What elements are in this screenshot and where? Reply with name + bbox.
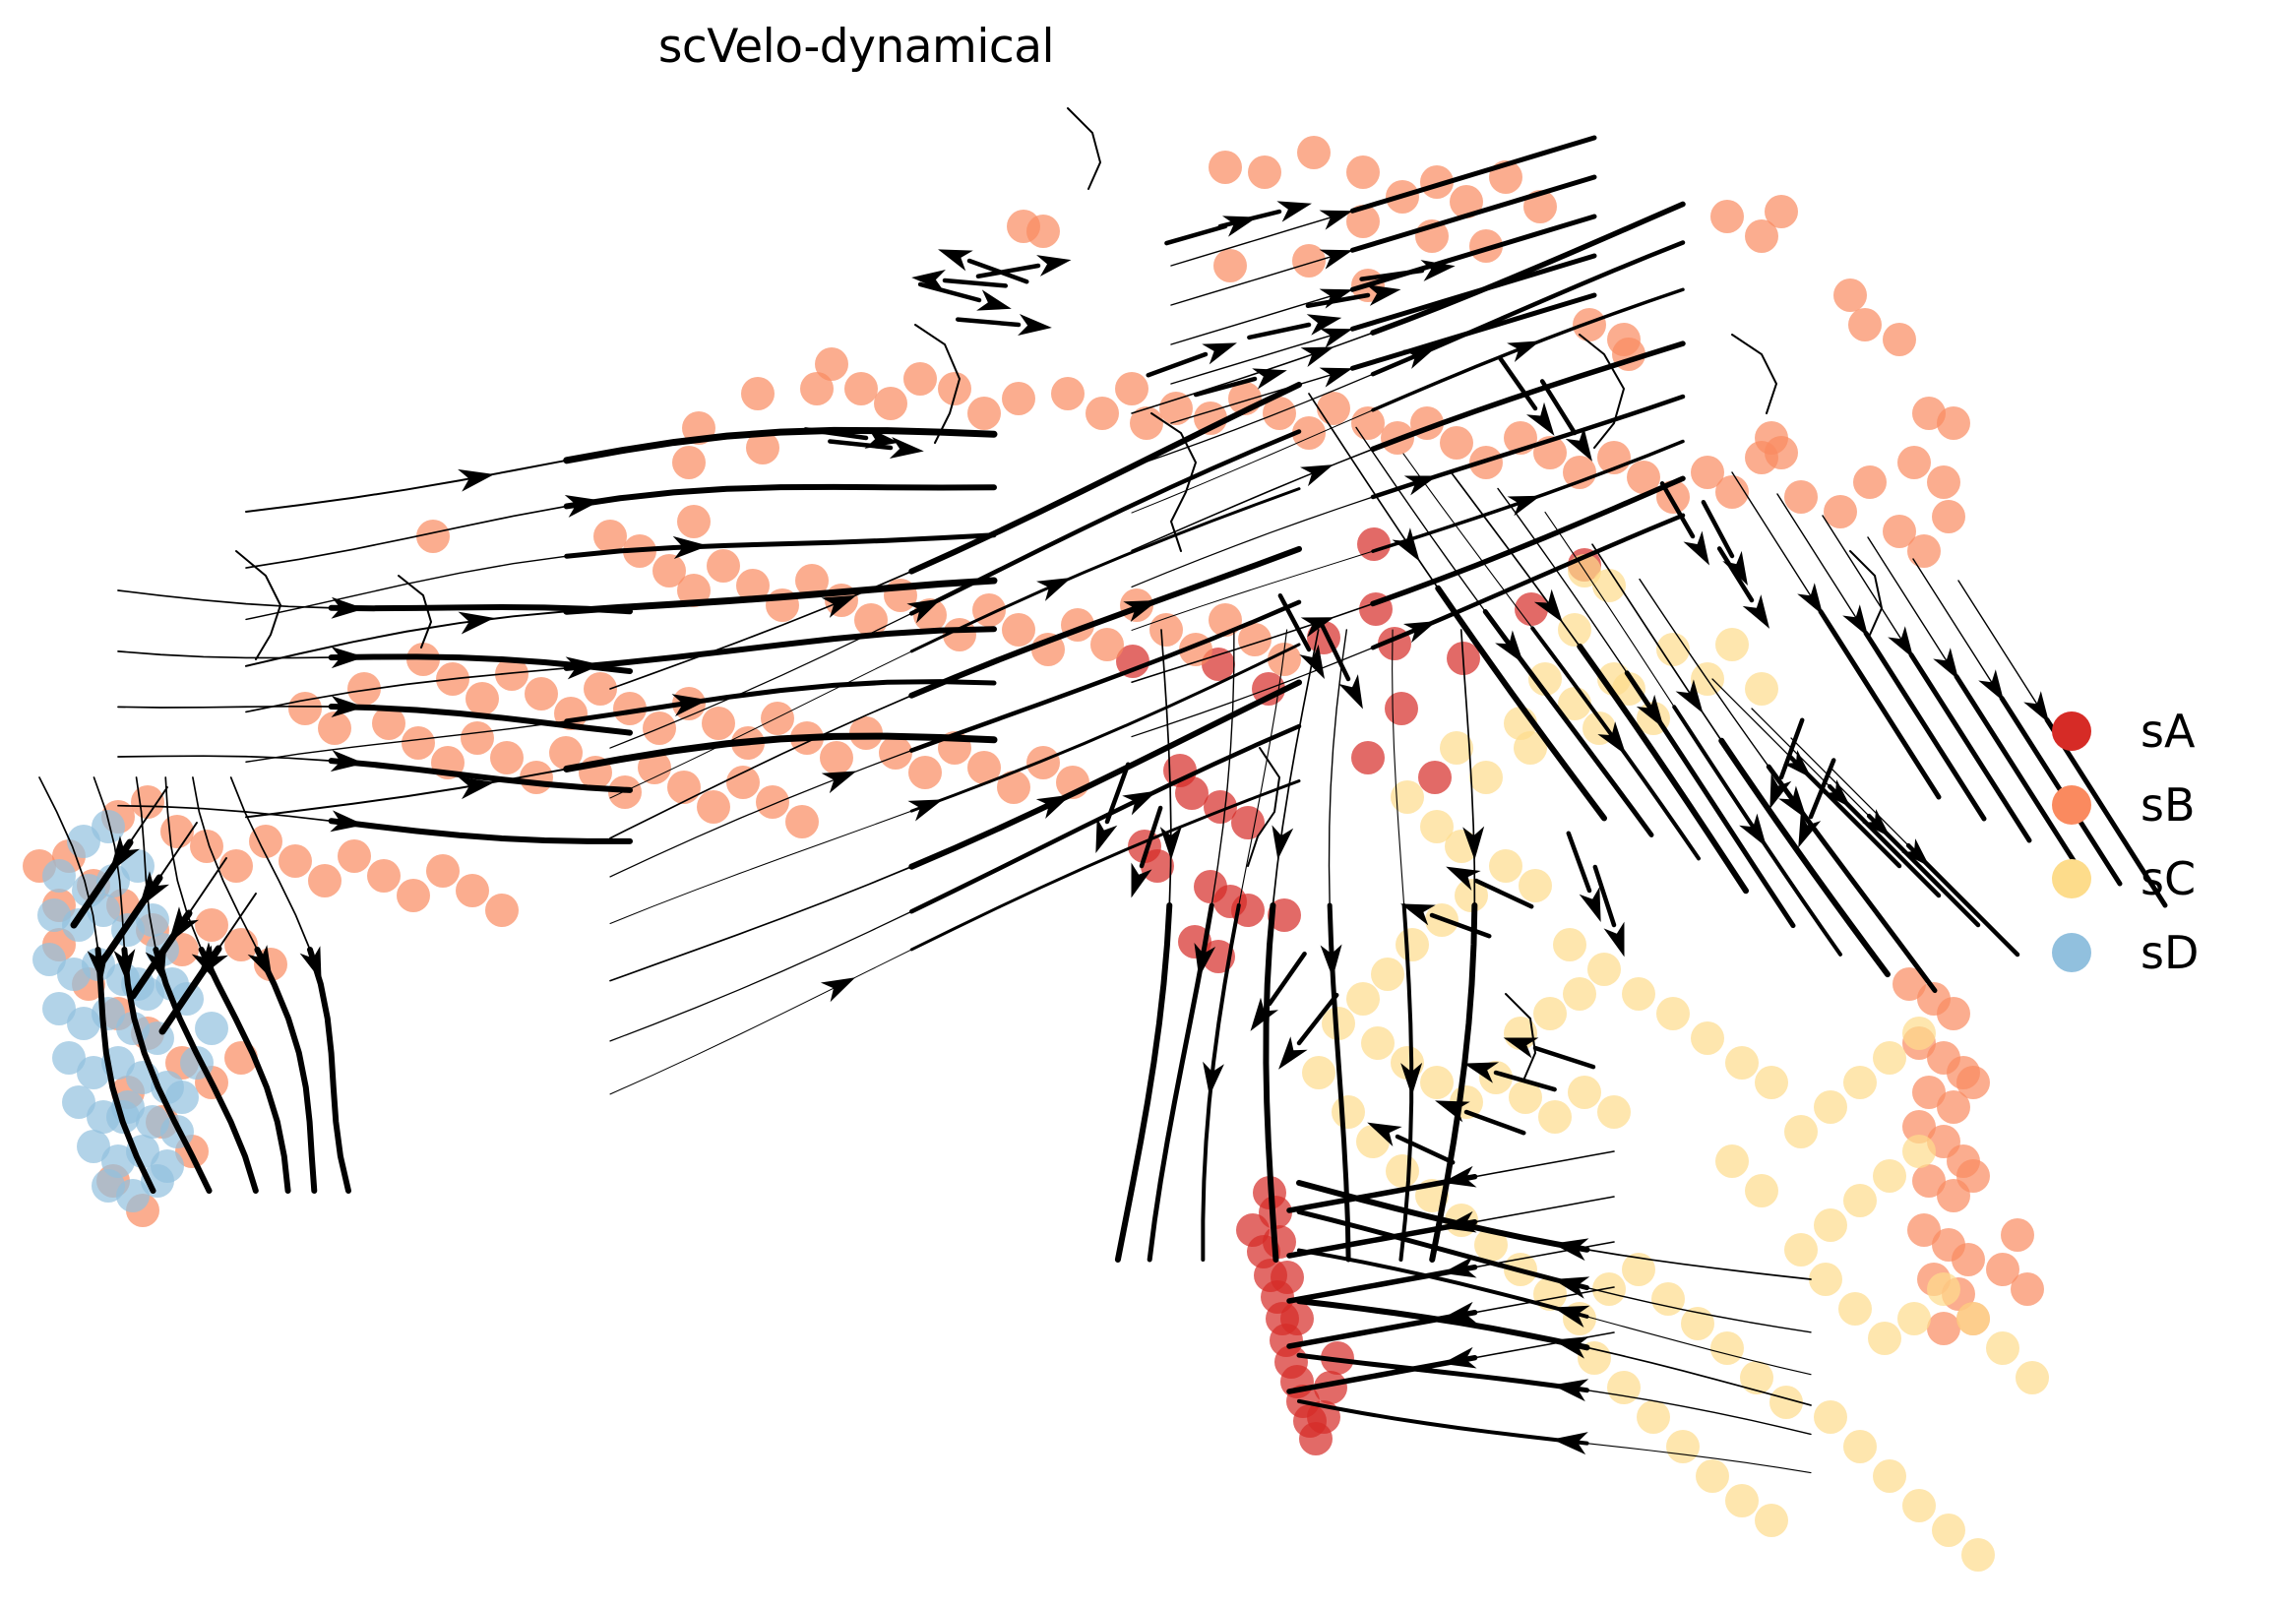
scatter-point [318,711,351,745]
scatter-point [815,347,848,381]
scatter-point [1715,1144,1749,1178]
scatter-point [1573,308,1606,341]
scatter-point [1597,1095,1631,1129]
velocity-streamline [1821,611,1939,797]
scatter-point [1765,195,1798,228]
scatter-point [726,766,760,799]
legend-dot-sA [2052,711,2091,751]
legend-item-sB[interactable]: sB [2052,768,2199,841]
scatter-point [1607,1371,1641,1404]
velocity-arrowhead [1933,648,1967,685]
scatter-point [1130,406,1163,440]
scatter-point [1651,1282,1685,1316]
velocity-streamline [610,950,911,1094]
velocity-arrowhead [821,967,860,1002]
velocity-streamline [246,461,567,512]
velocity-streamline [1732,335,1776,413]
scatter-point [1346,155,1380,189]
velocity-streamline [1068,108,1100,189]
scatter-point [485,894,519,927]
velocity-streamline [1466,1112,1523,1133]
scatter-point [1317,392,1350,425]
scatter-point [1159,392,1193,425]
legend-label-sC: sC [2141,856,2196,901]
scatter-point [1809,1263,1842,1296]
scatter-point [456,874,489,907]
velocity-streamline [1132,410,1373,513]
scatter-point [1902,1489,1936,1522]
scatter-point [1932,1514,1965,1547]
velocity-streamline [1270,954,1305,1004]
scatter-point [1937,997,1970,1030]
scatter-point [1853,465,1887,499]
scatter-point [490,741,524,774]
scatter-point [1209,151,1242,184]
velocity-streamline [1393,630,1404,905]
scatter-point [1952,1243,1985,1276]
velocity-streamline [911,431,1299,613]
scatter-point [1533,997,1567,1030]
scatter-point [160,815,194,848]
velocity-arrowhead [1267,825,1293,861]
scatter-point [1489,849,1522,883]
velocity-streamline [189,858,226,913]
velocity-arrowhead [1036,249,1073,277]
velocity-streamline [1475,1197,1614,1222]
scatter-point [338,839,371,873]
scatter-point [1745,672,1778,706]
scatter-point [1883,323,1916,356]
legend-item-sD[interactable]: sD [2052,915,2199,989]
scatter-point [1002,613,1035,647]
scatter-point [1115,372,1148,405]
scatter-point [279,844,312,878]
scatter-point [308,864,341,897]
scatter-point [1691,1021,1724,1055]
scatter-point [1386,1154,1419,1188]
velocity-streamline [332,656,630,671]
scatter-point [1351,406,1385,440]
velocity-streamline [1866,633,1984,819]
velocity-streamline [1299,1211,1587,1287]
velocity-arrowhead [1842,604,1877,642]
velocity-streamlines-layer [39,108,2165,1473]
scatter-point [1592,569,1626,602]
velocity-arrowhead [907,789,947,821]
scatter-point [1932,500,1965,533]
velocity-arrowhead [458,464,496,492]
scatter-point [465,682,499,715]
scatter-point [1956,1302,1990,1335]
velocity-streamline [610,811,911,923]
velocity-streamline [567,487,994,507]
velocity-arrowhead [459,607,497,635]
scatter-point [2011,1272,2044,1306]
scatter-point [1418,761,1452,794]
scatter-point [1784,480,1818,514]
velocity-streamline [1719,548,1752,600]
scatter-point [1961,1538,1995,1572]
scatter-point [1271,1261,1304,1294]
scatter-point [1833,278,1867,312]
scatter-point [1568,1076,1601,1109]
velocity-streamline [1352,216,1594,289]
scatter-point [820,741,853,774]
velocity-streamline [920,284,979,300]
velocity-arrowhead [1888,626,1922,663]
scatter-point [461,721,494,755]
velocity-arrowhead [1276,193,1314,222]
scatter-point [756,785,789,819]
scatter-point [1396,928,1429,961]
scatter-point [426,854,460,888]
scatter-point [1740,1361,1773,1394]
scatter-point [1784,1115,1818,1148]
velocity-streamline [1403,454,1532,628]
velocity-streamline [118,590,332,608]
scatter-point [1755,1504,1788,1537]
scatter-point [1814,1400,1847,1434]
velocity-arrowhead [1320,358,1356,387]
scatter-point [672,446,706,479]
scatter-point [1026,215,1060,248]
scatter-point [1563,977,1596,1011]
velocity-streamline [1118,905,1169,1260]
scatter-point [1332,1095,1365,1129]
velocity-arrowhead [976,289,1015,319]
scatter-point [195,908,228,942]
velocity-streamline [1166,226,1225,243]
scatter-point [1297,136,1331,169]
scatter-point [1026,746,1060,779]
scatter-point [1519,869,1552,902]
scatter-point [1873,1459,1906,1493]
velocity-arrowhead [1300,455,1337,486]
scatter-point [1592,1272,1626,1306]
scatter-point [1051,377,1085,410]
legend-dot-sD [2052,933,2091,972]
scatter-point [2001,1218,2034,1252]
legend-item-sC[interactable]: sC [2052,841,2199,915]
scatter-point [1843,1184,1877,1217]
scatter-point [1002,382,1035,415]
velocity-streamline [610,867,911,981]
velocity-streamline [610,911,911,1041]
scatter-point [1357,527,1391,561]
velocity-streamline [1171,250,1352,305]
scatter-point [42,859,76,893]
scatter-point [1346,982,1380,1016]
scatter-point [1553,928,1586,961]
scatter-point [697,790,730,824]
scatter-point [707,549,740,583]
velocity-streamline [1535,1048,1593,1067]
scatter-point [1956,1159,1990,1193]
scatter-point [402,726,435,760]
velocity-arrowhead [1202,333,1240,364]
scatter-point [1868,1322,1901,1355]
scatter-point [1587,953,1621,986]
velocity-arrowhead [1743,594,1779,634]
scatter-point [667,771,701,804]
scatter-point [702,707,735,740]
velocity-streamline [399,576,431,648]
velocity-arrowhead [1018,314,1053,339]
legend-dot-sB [2052,785,2091,825]
scatter-point [1725,1046,1759,1080]
scatter-point [938,372,971,405]
scatter-point [1086,397,1119,430]
velocity-streamline [1569,834,1589,891]
scatter-point [1538,1100,1572,1134]
scatter-point [844,372,878,405]
velocity-streamline [1132,449,1373,550]
velocity-streamline [1132,497,1373,587]
scatter-point [903,362,937,396]
velocity-streamline [310,950,348,1191]
velocity-arrowhead [1507,332,1544,362]
velocity-streamline [1475,1151,1614,1177]
velocity-arrowhead [1797,583,1831,620]
velocity-streamline [332,607,630,611]
scatter-point [1248,155,1281,189]
scatter-point [1897,446,1931,479]
legend-item-sA[interactable]: sA [2052,694,2199,768]
scatter-point [1213,249,1247,282]
scatter-point [1927,1272,1960,1306]
legend-label-sA: sA [2141,709,2195,754]
velocity-streamline [118,756,332,761]
scatter-point [397,879,430,912]
legend-dot-sC [2052,859,2091,898]
scatter-point [1361,1026,1395,1060]
velocity-streamline [1352,295,1594,368]
scatter-point [1440,426,1473,460]
velocity-streamline [567,430,994,460]
velocity-embedding-figure: scVelo-dynamical sA sB sC sD [0,0,2296,1607]
scatter-point [1784,1233,1818,1267]
scatter-point [288,692,322,725]
velocity-streamline [1148,354,1206,375]
scatter-point [1715,628,1749,661]
velocity-arrowhead [1122,781,1161,816]
scatter-point [879,736,912,770]
velocity-arrowhead [1241,998,1278,1037]
scatter-point [1755,1066,1788,1099]
scatter-point [593,520,627,553]
velocity-streamline [1587,1250,1812,1279]
scatter-point [1420,1066,1454,1099]
scatter-point [219,849,253,883]
scatter-point [195,1012,228,1045]
scatter-point [1090,628,1124,661]
legend-label-sD: sD [2141,930,2199,975]
legend-label-sB: sB [2141,782,2196,828]
scatter-point [1824,495,1857,528]
velocity-arrowhead [934,239,972,271]
scatter-point [1843,1430,1877,1463]
scatter-point [677,505,711,538]
velocity-streamline [945,280,1006,285]
scatter-point [1814,1090,1847,1124]
velocity-streamline [1249,325,1309,338]
velocity-streamline [567,629,994,668]
velocity-arrowhead [890,437,925,462]
scatter-point [1637,1400,1670,1434]
scatter-point [1280,1302,1314,1335]
scatter-point [1848,308,1882,341]
scatter-streamline-canvas [0,0,2296,1607]
scatter-point [1515,592,1548,626]
scatter-point [1814,1208,1847,1242]
legend: sA sB sC sD [2052,694,2199,989]
scatter-point [1351,741,1385,774]
scatter-point [761,702,794,735]
scatter-point [1725,1484,1759,1517]
scatter-point [1907,534,1941,568]
scatter-point [1897,1302,1931,1335]
velocity-streamline [246,506,567,568]
velocity-streamline [1911,654,2029,840]
velocity-arrowhead [1978,669,2013,707]
velocity-arrowhead [1338,674,1373,713]
velocity-arrowhead [1683,531,1718,571]
scatter-point [1622,977,1655,1011]
scatter-point [131,785,164,819]
scatter-point [1843,1066,1877,1099]
scatter-point [785,805,819,838]
scatter-point [1696,1459,1729,1493]
velocity-arrowhead [1036,568,1076,601]
velocity-streamline [1791,738,1869,816]
scatter-point [1745,1174,1778,1207]
scatter-point [1558,613,1591,647]
scatter-point [1956,1066,1990,1099]
velocity-streamline [246,769,567,817]
scatter-point [1302,1056,1335,1089]
velocity-streamline [332,821,630,841]
scatter-point [1710,200,1744,233]
scatter-point [2016,1361,2049,1394]
scatter-point [367,859,401,893]
scatter-point [1927,465,1960,499]
scatter-point [1765,436,1798,469]
scatter-point [1838,1292,1872,1326]
scatter-point [1666,1430,1700,1463]
scatter-point [967,397,1001,430]
scatter-point [1873,1159,1906,1193]
scatter-point [1656,997,1690,1030]
velocity-streamline [958,320,1019,325]
scatter-point [1385,692,1418,725]
scatter-point [1927,1312,1960,1345]
scatter-point [908,756,942,789]
scatter-point [874,387,907,420]
scatter-point [416,520,450,553]
velocity-arrowhead [1508,486,1544,516]
scatter-point [1292,244,1326,278]
scatter-point [741,377,775,410]
velocity-arrowhead [300,946,332,984]
scatter-point [1986,1331,2019,1365]
scatter-point [1873,1041,1906,1075]
scatter-point [1902,1135,1936,1168]
scatter-point [1902,1017,1936,1050]
velocity-streamline [1299,1401,1587,1444]
scatter-point [1371,958,1404,991]
scatter-point [1469,761,1503,794]
scatter-point [1710,1331,1744,1365]
scatter-point [525,677,558,711]
scatter-point [1937,406,1970,440]
